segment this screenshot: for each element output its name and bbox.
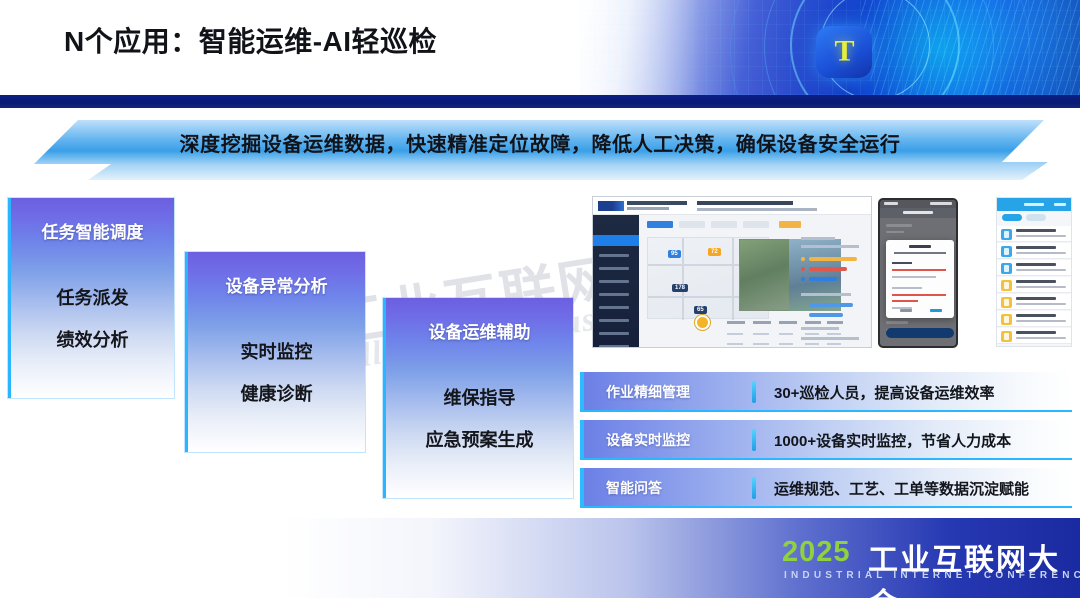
table-header-cell: [779, 321, 797, 324]
phone-dialog[interactable]: [886, 240, 954, 318]
subtitle-banner: 深度挖掘设备运维数据，快速精准定位故障，降低人工决策，确保设备安全运行: [0, 112, 1080, 188]
slide-root: T N个应用：智能运维-AI轻巡检 深度挖掘设备运维数据，快速精准定位故障，降低…: [0, 0, 1080, 608]
avatar: [1001, 331, 1012, 342]
list-app-action[interactable]: [1054, 203, 1066, 206]
list-item[interactable]: [997, 294, 1071, 310]
table-row-value: 30+巡检人员，提高设备运维效率: [774, 372, 1062, 412]
dashboard-sidebar-active-item: [593, 235, 639, 246]
dashboard-sidebar-item: [599, 254, 629, 257]
dashboard-sidebar-item: [599, 345, 629, 348]
list-item[interactable]: [997, 226, 1071, 242]
card-body: 实时监控 健康诊断: [188, 338, 365, 406]
table-row-value: 1000+设备实时监控，节省人力成本: [774, 420, 1062, 460]
table-row[interactable]: 智能问答 运维规范、工艺、工单等数据沉淀赋能: [580, 468, 1072, 508]
table-header-cell: [727, 321, 745, 324]
phone-status-bar: [880, 200, 956, 208]
map-pin: 65: [694, 306, 707, 314]
table-cell: [827, 343, 841, 345]
table-cell: [727, 333, 743, 335]
status-time: [884, 202, 898, 205]
list-filter-chip-active[interactable]: [1002, 214, 1022, 221]
panel-label: [801, 347, 853, 348]
row-separator: [752, 381, 756, 403]
panel-label: [801, 327, 839, 330]
dialog-hint-text: [892, 276, 936, 278]
dashboard-tab: [743, 221, 769, 228]
panel-label: [801, 245, 859, 248]
table-row[interactable]: 作业精细管理 30+巡检人员，提高设备运维效率: [580, 372, 1072, 412]
card-line: 任务派发: [57, 284, 129, 310]
list-item-title: [1016, 280, 1056, 283]
dashboard-logo: [598, 201, 624, 211]
dashboard-logo-text: [627, 201, 687, 205]
header-t-emblem: T: [816, 26, 872, 78]
dashboard-sidebar-item: [599, 332, 629, 335]
list-item-subtitle: [1016, 303, 1066, 305]
phone-nav-title: [903, 211, 933, 214]
dashboard-header-text: [697, 201, 793, 205]
avatar: [1001, 280, 1012, 291]
table-row-value: 运维规范、工艺、工单等数据沉淀赋能: [774, 468, 1062, 508]
list-item-title: [1016, 314, 1056, 317]
list-item-subtitle: [1016, 235, 1066, 237]
dialog-alert-text: [892, 269, 946, 271]
panel-label: [801, 237, 835, 240]
table-row-key: 智能问答: [606, 468, 742, 508]
phone-bg-text: [886, 231, 904, 233]
list-item-title: [1016, 246, 1056, 249]
metrics-table: 作业精细管理 30+巡检人员，提高设备运维效率 设备实时监控 1000+设备实时…: [580, 372, 1072, 512]
list-item-title: [1016, 297, 1056, 300]
dashboard-count-badge: [695, 315, 710, 330]
table-row-key: 设备实时监控: [606, 420, 742, 460]
list-item[interactable]: [997, 243, 1071, 259]
conference-logo: 2025 工业互联网大会 INDUSTRIAL INTERNET CONFERE…: [782, 534, 1062, 586]
dashboard-sidebar-item: [599, 306, 629, 309]
dashboard-tab: [711, 221, 737, 228]
map-road: [682, 238, 684, 320]
dashboard-logo-subtext: [627, 207, 669, 210]
header-navy-bar: [0, 95, 1080, 108]
dashboard-screenshot: 95 72 178 65: [592, 196, 872, 348]
card-body: 维保指导 应急预案生成: [386, 384, 573, 452]
table-cell: [779, 333, 793, 335]
card-line: 绩效分析: [57, 326, 129, 352]
card-line: 健康诊断: [241, 380, 313, 406]
map-pin: 95: [668, 250, 681, 258]
avatar: [1001, 246, 1012, 257]
dashboard-tab: [647, 221, 673, 228]
dialog-alert-text: [892, 300, 918, 302]
list-item[interactable]: [997, 328, 1071, 344]
panel-bar: [809, 303, 853, 307]
list-item[interactable]: [997, 260, 1071, 276]
panel-label: [801, 337, 859, 340]
list-item-subtitle: [1016, 269, 1066, 271]
row-separator: [752, 429, 756, 451]
card-line: 应急预案生成: [426, 426, 534, 452]
avatar: [1001, 229, 1012, 240]
phone-modal-screenshot: [878, 198, 958, 348]
dialog-field-label: [892, 287, 922, 289]
list-item-title: [1016, 229, 1056, 232]
panel-bar: [809, 313, 843, 317]
card-body: 任务派发 绩效分析: [11, 284, 174, 352]
dashboard-sidebar-item: [599, 319, 629, 322]
list-item[interactable]: [997, 277, 1071, 293]
map-pin: 178: [672, 284, 688, 292]
card-line: 维保指导: [444, 384, 516, 410]
feature-card-task-scheduling[interactable]: 任务智能调度 任务派发 绩效分析: [8, 198, 174, 398]
slide-header: T N个应用：智能运维-AI轻巡检: [0, 0, 1080, 108]
dialog-title: [909, 245, 931, 248]
dialog-subtitle: [894, 252, 946, 254]
list-app-header: [997, 198, 1071, 211]
table-cell: [753, 343, 769, 345]
map-road: [732, 238, 734, 320]
phone-list-screenshot: [996, 197, 1072, 347]
legend-dot: [801, 267, 805, 271]
list-app-title: [1024, 203, 1044, 206]
status-icons: [930, 202, 952, 205]
list-item-subtitle: [1016, 286, 1066, 288]
legend-dot: [801, 257, 805, 261]
dashboard-header-subtext: [697, 208, 817, 211]
banner-shadow-shape: [88, 162, 1048, 180]
row-separator: [752, 477, 756, 499]
logo-name-en: INDUSTRIAL INTERNET CONFERENCE: [784, 570, 1080, 581]
dashboard-tab: [679, 221, 705, 228]
card-line: 实时监控: [241, 338, 313, 364]
banner-text: 深度挖掘设备运维数据，快速精准定位故障，降低人工决策，确保设备安全运行: [0, 120, 1080, 164]
list-item-subtitle: [1016, 337, 1066, 339]
table-row-key: 作业精细管理: [606, 372, 742, 412]
panel-bar: [809, 267, 847, 271]
list-item[interactable]: [997, 311, 1071, 327]
dialog-field-label: [892, 262, 912, 264]
feature-card-anomaly-analysis[interactable]: 设备异常分析 实时监控 健康诊断: [185, 252, 365, 452]
page-title: N个应用：智能运维-AI轻巡检: [64, 20, 437, 60]
card-title: 设备运维辅助: [386, 318, 573, 343]
phone-primary-button[interactable]: [886, 328, 954, 338]
phone-bg-text: [886, 224, 912, 227]
table-cell: [779, 343, 793, 345]
dialog-cancel-button[interactable]: [900, 309, 912, 312]
phone-bg-text: [886, 321, 908, 324]
avatar: [1001, 297, 1012, 308]
panel-bar: [809, 257, 857, 261]
dialog-confirm-button[interactable]: [930, 309, 942, 312]
list-filter-chip[interactable]: [1026, 214, 1046, 221]
table-cell: [805, 343, 819, 345]
table-cell: [753, 333, 769, 335]
logo-year: 2025: [782, 536, 851, 569]
dashboard-sidebar-item: [599, 267, 629, 270]
table-header-cell: [753, 321, 771, 324]
dashboard-tab-highlight: [779, 221, 801, 228]
dashboard-sidebar-item: [599, 293, 629, 296]
panel-label: [801, 293, 851, 296]
table-cell: [727, 343, 743, 345]
table-row[interactable]: 设备实时监控 1000+设备实时监控，节省人力成本: [580, 420, 1072, 460]
dashboard-content: 95 72 178 65: [639, 215, 871, 347]
feature-card-maintenance-assist[interactable]: 设备运维辅助 维保指导 应急预案生成: [383, 298, 573, 498]
dashboard-topbar: [593, 197, 871, 215]
panel-bar: [809, 277, 837, 281]
avatar: [1001, 314, 1012, 325]
dashboard-sidebar: [593, 215, 639, 347]
list-item-subtitle: [1016, 320, 1066, 322]
header-fade-overlay: [400, 0, 700, 95]
list-item-title: [1016, 263, 1056, 266]
legend-dot: [801, 277, 805, 281]
dashboard-right-panel: [801, 237, 869, 343]
avatar: [1001, 263, 1012, 274]
dialog-alert-text: [892, 294, 946, 296]
map-pin: 72: [708, 248, 721, 256]
list-item-subtitle: [1016, 252, 1066, 254]
t-glyph-icon: T: [834, 36, 853, 66]
card-title: 设备异常分析: [188, 272, 365, 297]
list-item-title: [1016, 331, 1056, 334]
dashboard-sidebar-item: [599, 280, 629, 283]
card-title: 任务智能调度: [11, 218, 174, 243]
